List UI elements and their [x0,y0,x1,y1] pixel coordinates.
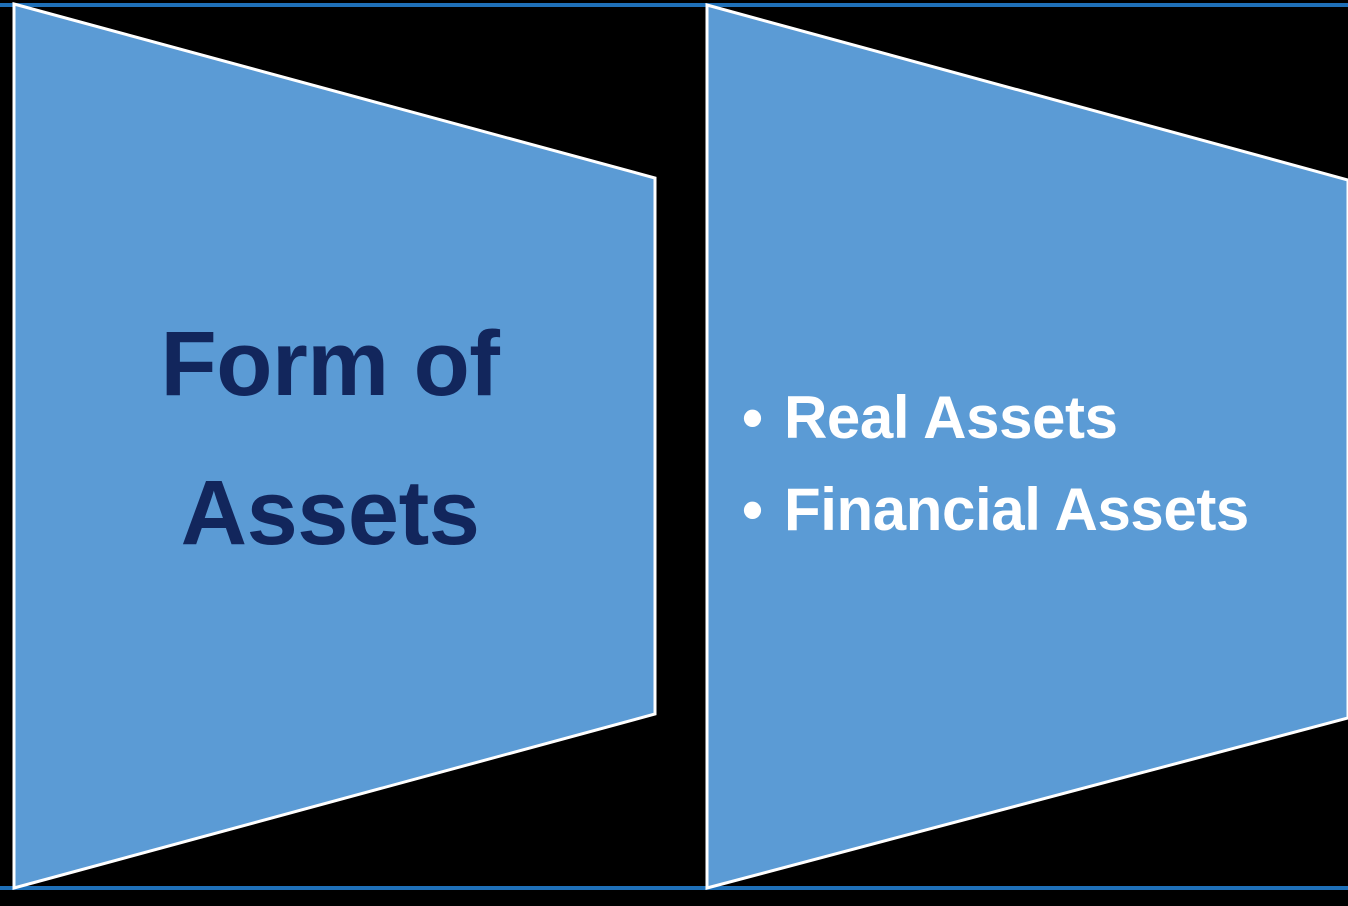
bullet-icon: • [742,372,784,464]
left-shape-title: Form of Assets [40,290,620,588]
text-layer: Form of Assets • Real Assets • Financial… [0,0,1348,906]
list-item[interactable]: • Real Assets [742,372,1342,464]
title-line-1: Form of [40,290,620,439]
bullet-label: Real Assets [784,372,1118,464]
right-shape-bullet-list: • Real Assets • Financial Assets [742,372,1342,556]
title-line-2: Assets [40,439,620,588]
bullet-label: Financial Assets [784,464,1249,556]
bullet-icon: • [742,464,784,556]
diagram-canvas: Form of Assets • Real Assets • Financial… [0,0,1348,906]
list-item[interactable]: • Financial Assets [742,464,1342,556]
